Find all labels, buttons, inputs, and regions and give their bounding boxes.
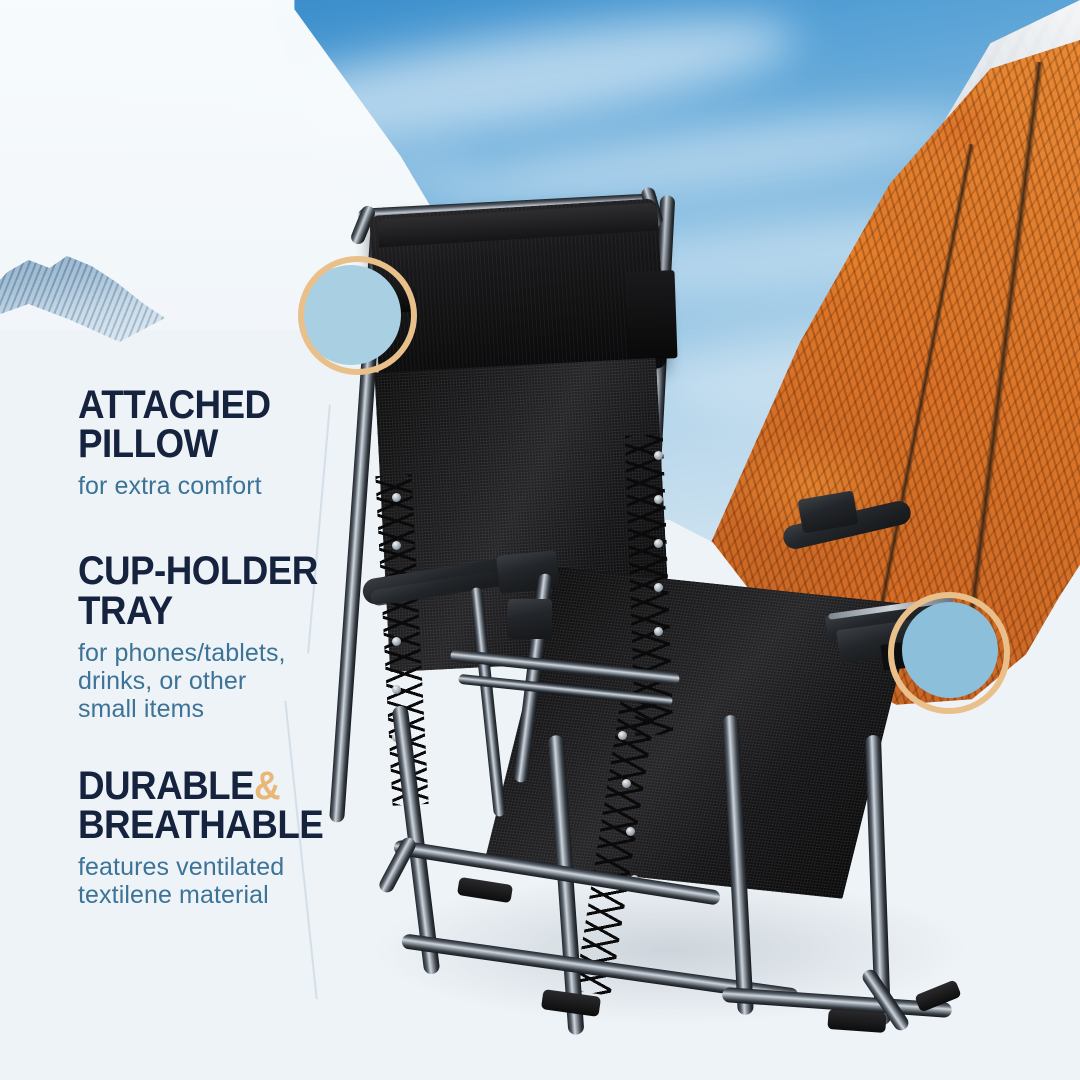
feature-list: ATTACHED PILLOW for extra comfort CUP-HO… [78,386,378,909]
feature-cup-holder-tray: CUP-HOLDER TRAY for phones/tablets, drin… [78,552,378,722]
feature-title-line1: DURABLE& [78,767,354,806]
feature-subtitle-line2: textilene material [78,881,269,909]
foot-cap [827,1009,886,1033]
feature-subtitle-line1: features ventilated [78,853,284,881]
product-infographic: ATTACHED PILLOW for extra comfort CUP-HO… [0,0,1080,1080]
feature-subtitle: for extra comfort [78,472,378,500]
feature-subtitle-line3: small items [78,695,204,723]
callout-ring [888,592,1010,714]
feature-subtitle-line1: for phones/tablets, [78,639,286,667]
feature-title-line1: ATTACHED [78,386,354,425]
feature-title-line2: PILLOW [78,425,354,464]
feature-title-word: DURABLE [78,764,254,808]
feature-durable-breathable: DURABLE& BREATHABLE features ventilated … [78,767,378,909]
feature-title-line1: CUP-HOLDER [78,552,354,591]
callout-pillow [295,253,420,378]
pillow-strap-right [626,270,677,360]
recline-lock-knob [508,599,552,639]
feature-title-line2: BREATHABLE [78,806,354,845]
callout-ring [298,256,417,375]
feature-attached-pillow: ATTACHED PILLOW for extra comfort [78,386,378,500]
feature-subtitle: for phones/tablets, drinks, or other sma… [78,639,378,723]
feature-subtitle: features ventilated textilene material [78,853,378,909]
callout-tray [888,592,1010,714]
feature-subtitle-line2: drinks, or other [78,667,246,695]
feature-title-line2: TRAY [78,592,354,631]
ampersand: & [254,764,280,808]
